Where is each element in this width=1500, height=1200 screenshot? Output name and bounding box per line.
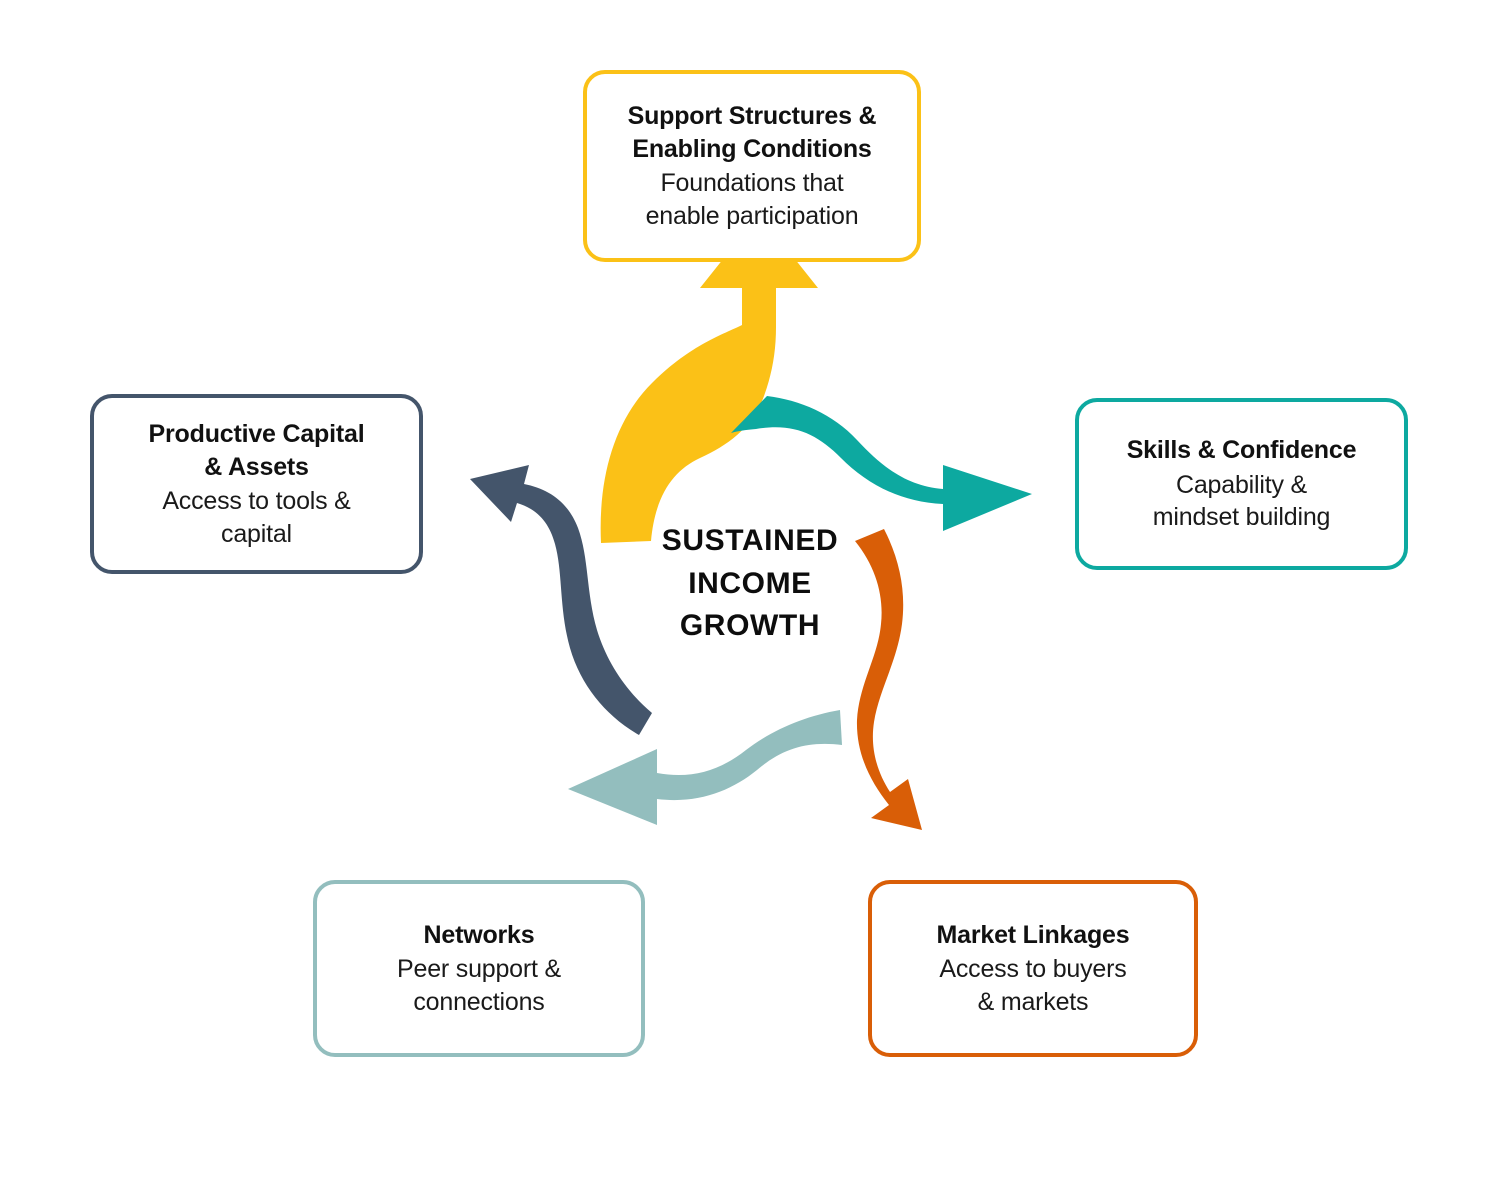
node-support-structures-title-line1: Support Structures & bbox=[628, 102, 877, 130]
node-support-structures-desc-line2: enable participation bbox=[646, 202, 859, 230]
node-productive-capital-desc-line2: capital bbox=[221, 520, 292, 548]
node-skills-confidence-desc-line2: mindset building bbox=[1153, 503, 1330, 531]
node-productive-capital-desc: Access to tools & capital bbox=[162, 485, 350, 550]
node-networks-desc-line2: connections bbox=[413, 988, 544, 1016]
arrow-to-skills-ribbon bbox=[731, 396, 1032, 531]
node-productive-capital[interactable]: Productive Capital & Assets Access to to… bbox=[90, 394, 423, 574]
node-market-linkages[interactable]: Market Linkages Access to buyers & marke… bbox=[868, 880, 1198, 1057]
node-networks-title: Networks bbox=[424, 919, 535, 952]
node-networks-title-line1: Networks bbox=[424, 921, 535, 949]
node-support-structures-desc-line1: Foundations that bbox=[660, 169, 843, 197]
node-market-linkages-desc: Access to buyers & markets bbox=[939, 953, 1126, 1018]
node-productive-capital-title-line1: Productive Capital bbox=[149, 420, 365, 448]
node-skills-confidence-title: Skills & Confidence bbox=[1127, 434, 1357, 467]
node-skills-confidence[interactable]: Skills & Confidence Capability & mindset… bbox=[1075, 398, 1408, 570]
node-market-linkages-desc-line1: Access to buyers bbox=[939, 955, 1126, 983]
node-skills-confidence-desc: Capability & mindset building bbox=[1153, 469, 1330, 534]
node-productive-capital-title-line2: & Assets bbox=[204, 453, 308, 481]
arrow-ribbons bbox=[470, 214, 1032, 830]
node-support-structures-title: Support Structures & Enabling Conditions bbox=[628, 100, 877, 165]
node-support-structures[interactable]: Support Structures & Enabling Conditions… bbox=[583, 70, 921, 262]
node-support-structures-desc: Foundations that enable participation bbox=[646, 167, 859, 232]
node-skills-confidence-desc-line1: Capability & bbox=[1176, 471, 1307, 499]
node-support-structures-title-line2: Enabling Conditions bbox=[632, 135, 871, 163]
node-market-linkages-desc-line2: & markets bbox=[978, 988, 1089, 1016]
node-networks-desc: Peer support & connections bbox=[397, 953, 561, 1018]
arrow-to-market-ribbon bbox=[855, 529, 922, 830]
node-market-linkages-title-line1: Market Linkages bbox=[937, 921, 1130, 949]
node-market-linkages-title: Market Linkages bbox=[937, 919, 1130, 952]
node-productive-capital-title: Productive Capital & Assets bbox=[149, 418, 365, 483]
diagram-canvas: SUSTAINED INCOME GROWTH Support Structur… bbox=[0, 0, 1500, 1200]
node-productive-capital-desc-line1: Access to tools & bbox=[162, 487, 350, 515]
node-networks-desc-line1: Peer support & bbox=[397, 955, 561, 983]
arrow-to-support-ribbon bbox=[601, 214, 818, 543]
node-networks[interactable]: Networks Peer support & connections bbox=[313, 880, 645, 1057]
arrow-to-networks-ribbon bbox=[568, 710, 842, 825]
node-skills-confidence-title-line1: Skills & Confidence bbox=[1127, 436, 1357, 464]
